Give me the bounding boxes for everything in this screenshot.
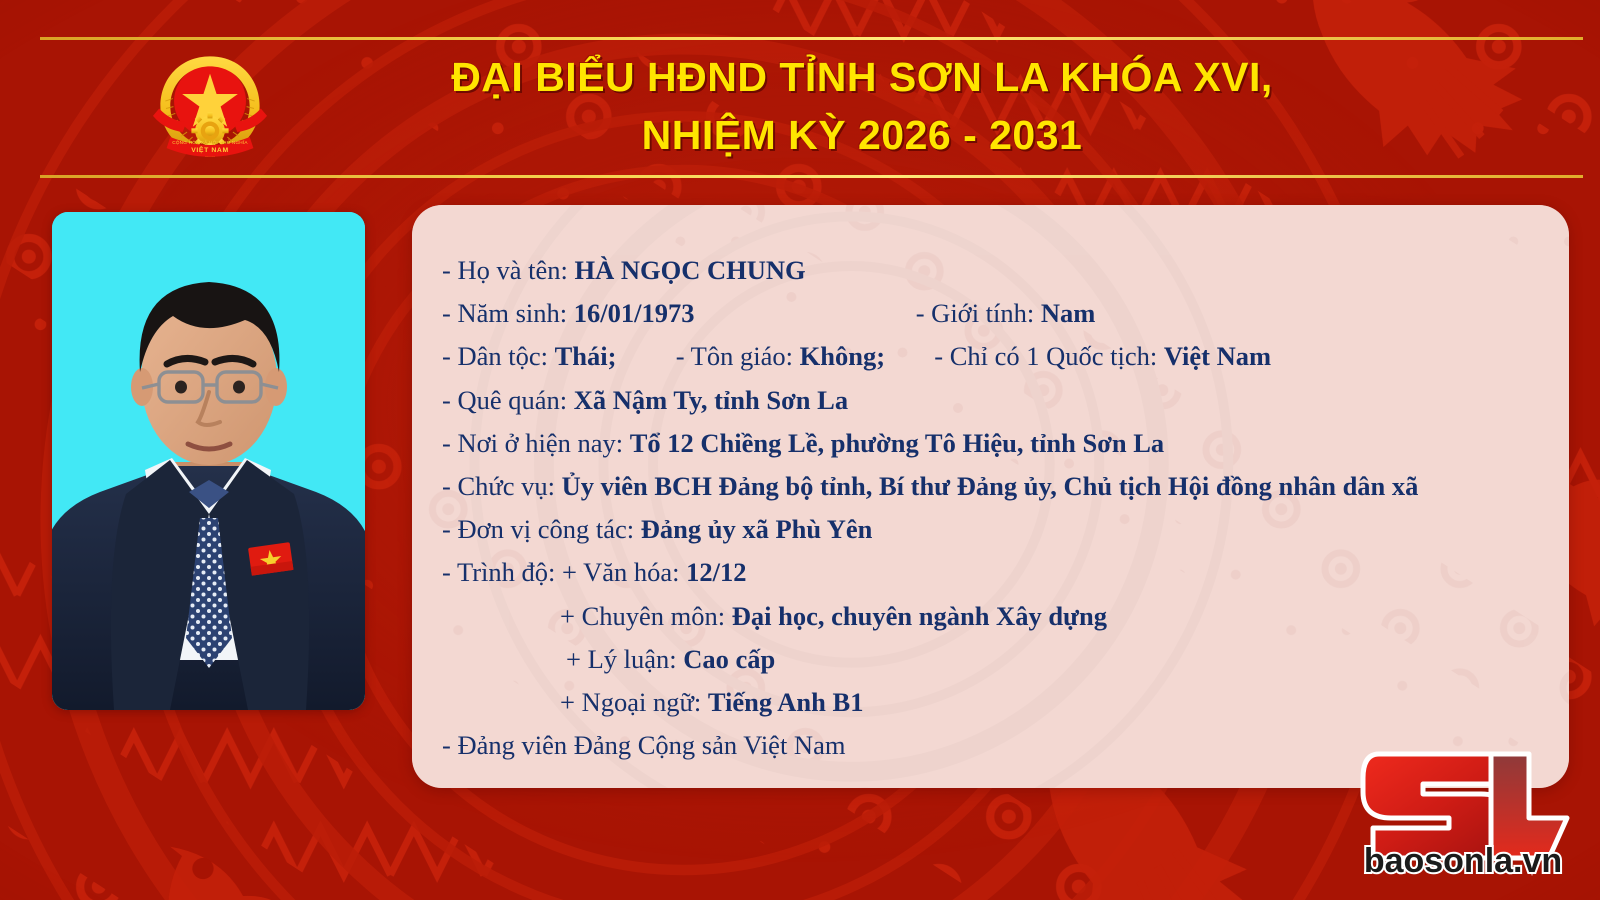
value-birth-year: 16/01/1973 bbox=[574, 298, 695, 328]
label-hometown: - Quê quán: bbox=[442, 385, 567, 415]
value-full-name: HÀ NGỌC CHUNG bbox=[574, 255, 805, 285]
national-emblem-icon: CỘNG HÒA XÃ HỘI CHỦ NGHĨA VIỆT NAM bbox=[148, 44, 272, 168]
row-education-professional: + Chuyên môn: Đại học, chuyên ngành Xây … bbox=[442, 595, 1543, 638]
value-nationality: Việt Nam bbox=[1164, 341, 1271, 371]
portrait-illustration bbox=[52, 212, 365, 710]
baosonla-logo-icon: baosonla.vn bbox=[1337, 724, 1589, 876]
row-full-name: - Họ và tên: HÀ NGỌC CHUNG bbox=[442, 249, 1543, 292]
gold-divider-top bbox=[40, 37, 1583, 40]
svg-text:CỘNG HÒA XÃ HỘI CHỦ NGHĨA: CỘNG HÒA XÃ HỘI CHỦ NGHĨA bbox=[172, 139, 248, 145]
row-education-theory: + Lý luận: Cao cấp bbox=[442, 638, 1543, 681]
label-gender: - Giới tính: bbox=[916, 298, 1035, 328]
value-hometown: Xã Nậm Ty, tỉnh Sơn La bbox=[574, 385, 848, 415]
row-education-language: + Ngoại ngữ: Tiếng Anh B1 bbox=[442, 681, 1543, 724]
title-line-2: NHIỆM KỲ 2026 - 2031 bbox=[642, 106, 1083, 164]
row-hometown: - Quê quán: Xã Nậm Ty, tỉnh Sơn La bbox=[442, 379, 1543, 422]
label-education-professional: + Chuyên môn: bbox=[560, 601, 725, 631]
label-education-language: + Ngoại ngữ: bbox=[560, 687, 701, 717]
label-birth-year: - Năm sinh: bbox=[442, 298, 567, 328]
value-work-unit: Đảng ủy xã Phù Yên bbox=[641, 514, 873, 544]
label-education-general: - Trình độ: + Văn hóa: bbox=[442, 557, 680, 587]
value-education-general: 12/12 bbox=[686, 557, 746, 587]
row-ethnicity-religion-nationality: - Dân tộc: Thái; - Tôn giáo: Không; - Ch… bbox=[442, 335, 1543, 378]
label-party-membership: - Đảng viên Đảng Cộng sản Việt Nam bbox=[442, 730, 845, 760]
label-religion: - Tôn giáo: bbox=[676, 341, 793, 371]
label-full-name: - Họ và tên: bbox=[442, 255, 568, 285]
value-position: Ủy viên BCH Đảng bộ tỉnh, Bí thư Đảng ủy… bbox=[562, 471, 1419, 501]
label-work-unit: - Đơn vị công tác: bbox=[442, 514, 634, 544]
title-line-1: ĐẠI BIỂU HĐND TỈNH SƠN LA KHÓA XVI, bbox=[451, 48, 1273, 106]
row-education-general: - Trình độ: + Văn hóa: 12/12 bbox=[442, 551, 1543, 594]
value-education-theory: Cao cấp bbox=[683, 644, 775, 674]
row-work-unit: - Đơn vị công tác: Đảng ủy xã Phù Yên bbox=[442, 508, 1543, 551]
value-gender: Nam bbox=[1041, 298, 1095, 328]
row-position: - Chức vụ: Ủy viên BCH Đảng bộ tỉnh, Bí … bbox=[442, 465, 1543, 508]
row-birth-and-gender: - Năm sinh: 16/01/1973 - Giới tính: Nam bbox=[442, 292, 1543, 335]
value-ethnicity: Thái; bbox=[555, 341, 617, 371]
value-education-professional: Đại học, chuyên ngành Xây dựng bbox=[732, 601, 1107, 631]
portrait-photo bbox=[52, 212, 365, 710]
value-residence: Tổ 12 Chiềng Lề, phường Tô Hiệu, tỉnh Sơ… bbox=[630, 428, 1164, 458]
delegate-info-card: - Họ và tên: HÀ NGỌC CHUNG - Năm sinh: 1… bbox=[412, 205, 1569, 788]
label-ethnicity: - Dân tộc: bbox=[442, 341, 548, 371]
value-religion: Không; bbox=[800, 341, 885, 371]
gold-divider-bottom bbox=[40, 175, 1583, 178]
card-content: - Họ và tên: HÀ NGỌC CHUNG - Năm sinh: 1… bbox=[412, 205, 1569, 767]
row-residence: - Nơi ở hiện nay: Tổ 12 Chiềng Lề, phườn… bbox=[442, 422, 1543, 465]
logo-site-text: baosonla.vn bbox=[1364, 842, 1562, 876]
label-position: - Chức vụ: bbox=[442, 471, 555, 501]
page-title: ĐẠI BIỂU HĐND TỈNH SƠN LA KHÓA XVI, NHIỆ… bbox=[292, 44, 1432, 168]
label-education-theory: + Lý luận: bbox=[566, 644, 677, 674]
label-residence: - Nơi ở hiện nay: bbox=[442, 428, 623, 458]
value-education-language: Tiếng Anh B1 bbox=[708, 687, 864, 717]
baosonla-logo[interactable]: baosonla.vn bbox=[1337, 724, 1589, 876]
label-nationality: - Chỉ có 1 Quốc tịch: bbox=[934, 341, 1157, 371]
header: CỘNG HÒA XÃ HỘI CHỦ NGHĨA VIỆT NAM ĐẠI B… bbox=[0, 0, 1600, 192]
